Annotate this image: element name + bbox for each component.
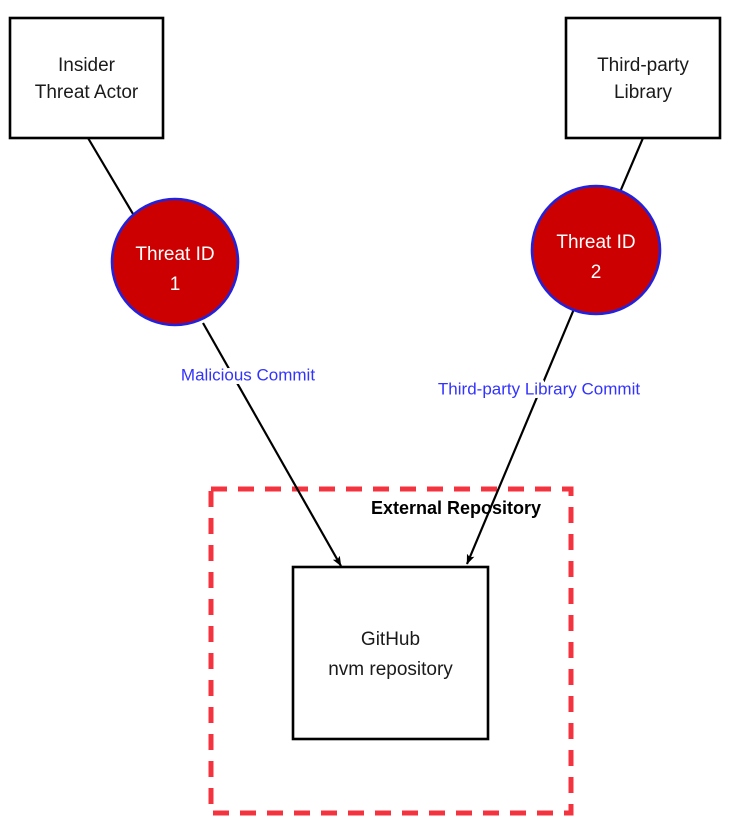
node-insider-threat-actor[interactable]: Insider Threat Actor: [10, 18, 163, 138]
threat-model-diagram: External Repository Malicious Commit Mal…: [0, 0, 733, 830]
node-third-party-library-label-line2: Library: [614, 82, 673, 103]
threat-node-2[interactable]: Threat ID 2: [532, 186, 660, 314]
node-insider-threat-actor-label-line2: Threat Actor: [35, 82, 139, 103]
connector-insider-to-threat1: [88, 138, 136, 219]
connector-threat2-to-repository: [467, 309, 574, 564]
edge-label-malicious-commit: Malicious Commit: [181, 365, 315, 384]
node-github-nvm-repository-label-line1: GitHub: [361, 629, 420, 650]
threat-node-1-label-line2: 1: [170, 274, 181, 295]
node-third-party-library-label-line1: Third-party: [597, 55, 689, 76]
trust-boundary-label: External Repository: [371, 498, 541, 518]
node-third-party-library-box[interactable]: [566, 18, 720, 138]
threat-node-2-label-line2: 2: [591, 262, 602, 283]
node-third-party-library[interactable]: Third-party Library: [566, 18, 720, 138]
node-insider-threat-actor-label-line1: Insider: [58, 55, 116, 76]
node-insider-threat-actor-box[interactable]: [10, 18, 163, 138]
connector-threat1-to-repository: [203, 323, 341, 566]
edge-label-third-party-library-commit: Third-party Library Commit: [438, 379, 640, 398]
threat-node-2-label-line1: Threat ID: [556, 232, 635, 253]
threat-node-1-label-line1: Threat ID: [135, 244, 214, 265]
diagram-canvas: External Repository Malicious Commit Mal…: [0, 0, 733, 830]
connector-library-to-threat2: [620, 138, 643, 192]
node-github-nvm-repository-box[interactable]: [293, 567, 488, 739]
node-github-nvm-repository-label-line2: nvm repository: [328, 659, 453, 680]
threat-node-1[interactable]: Threat ID 1: [112, 199, 238, 325]
node-github-nvm-repository[interactable]: GitHub nvm repository: [293, 567, 488, 739]
